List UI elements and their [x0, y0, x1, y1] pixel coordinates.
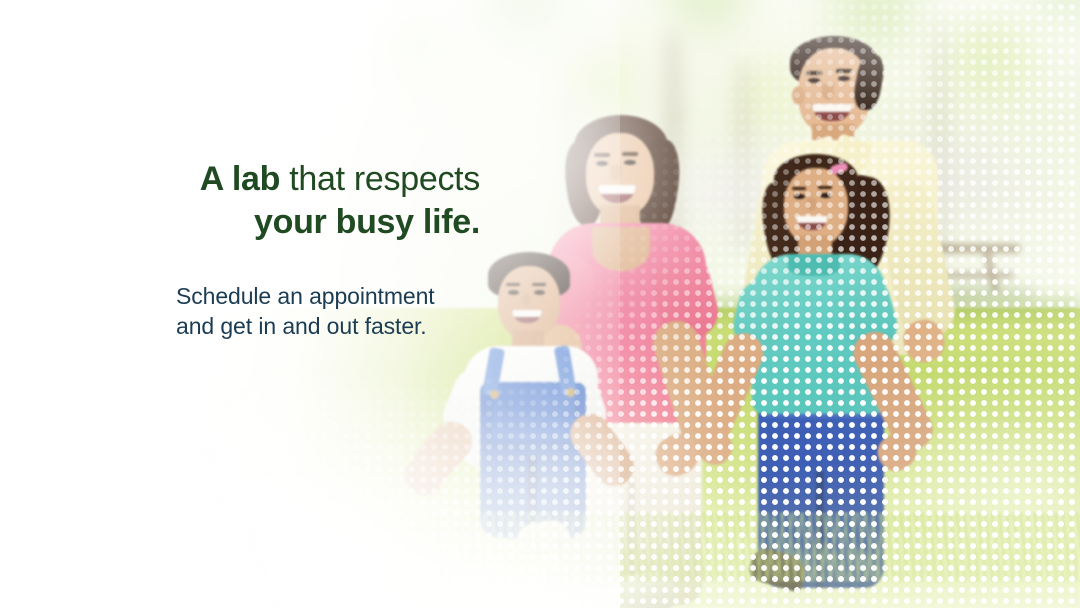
copy-block: A lab that respects your busy life. Sche…: [0, 0, 520, 608]
subheadline-line-2: and get in and out faster.: [176, 311, 506, 341]
headline-line-1: A lab that respects: [0, 158, 480, 201]
subheadline-line-1: Schedule an appointment: [176, 281, 506, 311]
headline-line-1-rest: that respects: [280, 160, 480, 198]
hero-banner: A lab that respects your busy life. Sche…: [0, 0, 1080, 608]
person-girl: [726, 142, 936, 562]
subheadline: Schedule an appointment and get in and o…: [176, 281, 506, 341]
headline-emphasis: A lab: [200, 160, 280, 198]
headline: A lab that respects your busy life.: [0, 158, 480, 244]
headline-line-2: your busy life.: [0, 201, 480, 244]
